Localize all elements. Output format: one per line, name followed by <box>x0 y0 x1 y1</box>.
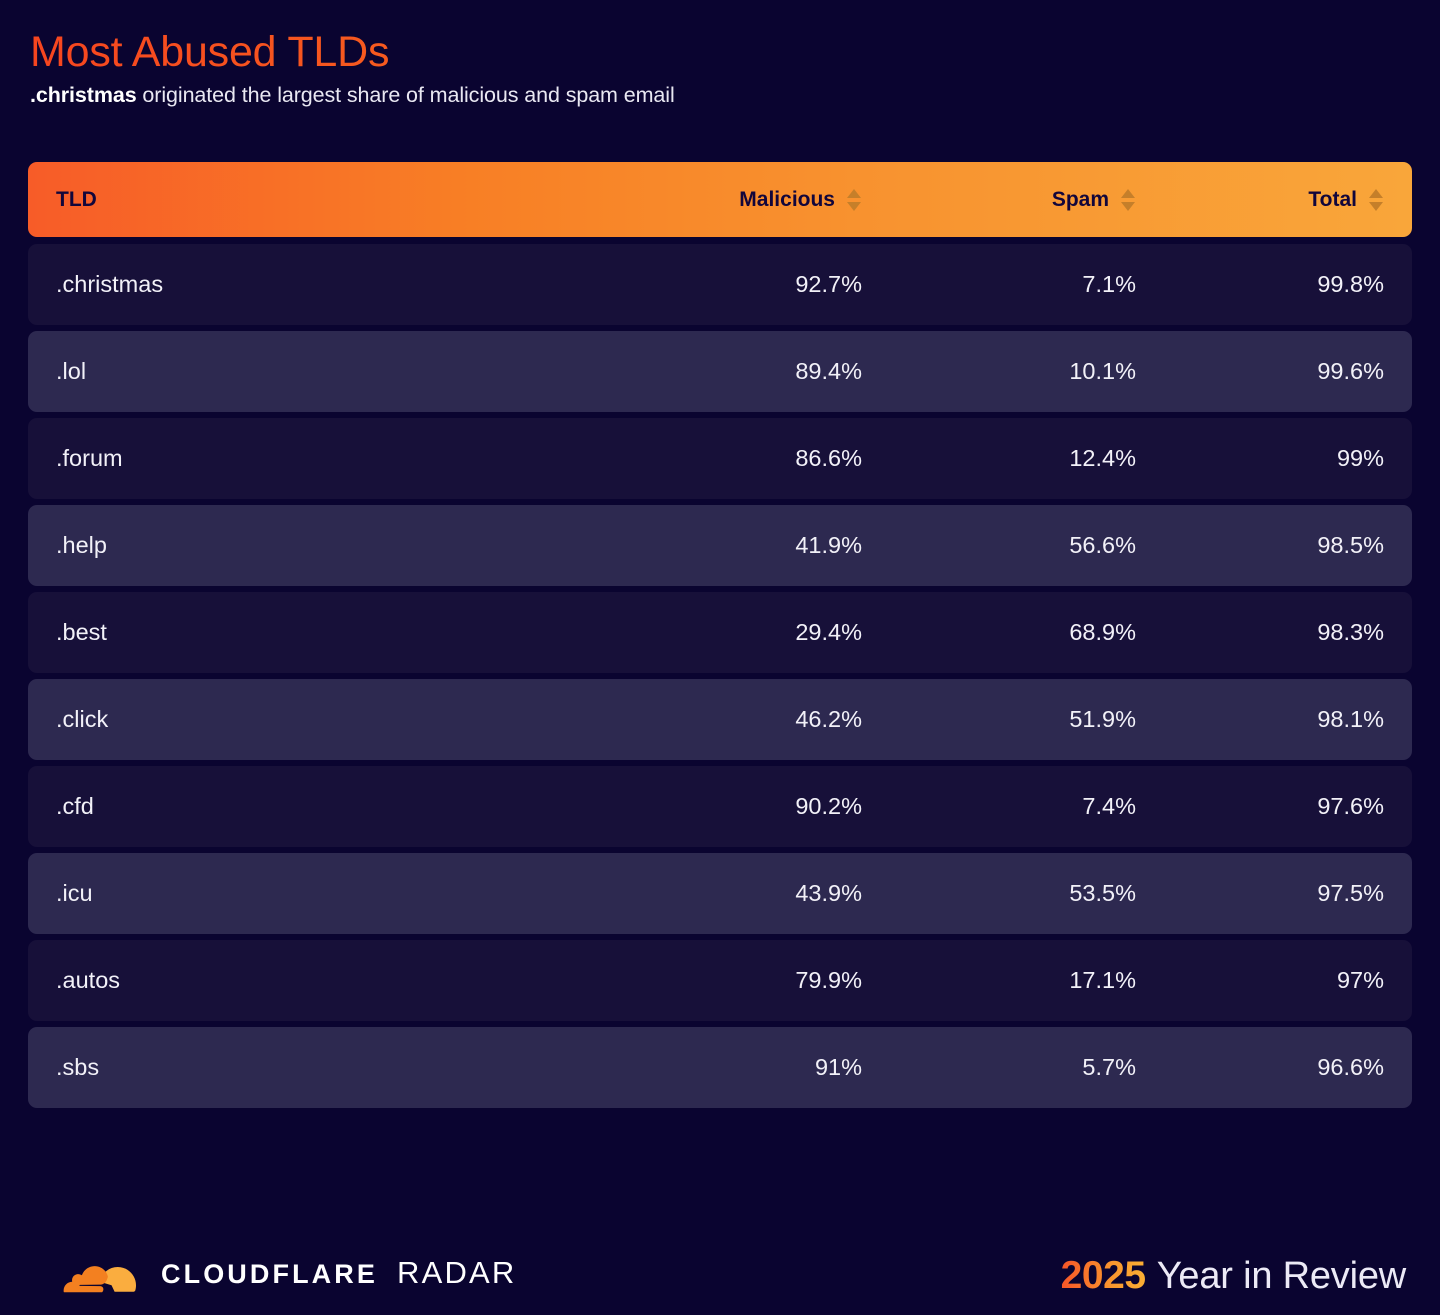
cell-malicious: 43.9% <box>588 880 862 907</box>
cell-spam: 10.1% <box>862 358 1136 385</box>
cell-spam: 53.5% <box>862 880 1136 907</box>
sort-arrow-up-icon <box>847 189 861 198</box>
brand-lockup: CLOUDFLARE RADAR <box>44 1249 517 1297</box>
year-in-review: 2025 Year in Review <box>1061 1254 1406 1298</box>
cell-malicious: 91% <box>588 1054 862 1081</box>
cell-tld: .sbs <box>28 1054 588 1081</box>
cell-total: 99.6% <box>1136 358 1412 385</box>
table-row[interactable]: .cfd 90.2% 7.4% 97.6% <box>28 766 1412 847</box>
sort-icon-malicious[interactable] <box>847 189 862 211</box>
cell-tld: .click <box>28 706 588 733</box>
header-block: Most Abused TLDs .christmas originated t… <box>30 28 1412 108</box>
cell-tld: .lol <box>28 358 588 385</box>
cell-spam: 56.6% <box>862 532 1136 559</box>
cell-tld: .cfd <box>28 793 588 820</box>
cell-total: 98.1% <box>1136 706 1412 733</box>
column-header-spam-label: Spam <box>1052 188 1109 212</box>
sort-arrow-up-icon <box>1369 189 1383 198</box>
cell-total: 99% <box>1136 445 1412 472</box>
cell-spam: 7.1% <box>862 271 1136 298</box>
cell-tld: .best <box>28 619 588 646</box>
sort-icon-total[interactable] <box>1369 189 1384 211</box>
cell-malicious: 86.6% <box>588 445 862 472</box>
cell-malicious: 92.7% <box>588 271 862 298</box>
year-in-review-label: Year in Review <box>1157 1255 1406 1298</box>
cell-malicious: 46.2% <box>588 706 862 733</box>
cell-spam: 7.4% <box>862 793 1136 820</box>
cell-malicious: 90.2% <box>588 793 862 820</box>
table-row[interactable]: .sbs 91% 5.7% 96.6% <box>28 1027 1412 1108</box>
cell-total: 97.6% <box>1136 793 1412 820</box>
cell-tld: .autos <box>28 967 588 994</box>
column-header-total-label: Total <box>1308 188 1357 212</box>
cell-total: 98.5% <box>1136 532 1412 559</box>
cell-spam: 5.7% <box>862 1054 1136 1081</box>
table-row[interactable]: .autos 79.9% 17.1% 97% <box>28 940 1412 1021</box>
cell-total: 99.8% <box>1136 271 1412 298</box>
cell-tld: .help <box>28 532 588 559</box>
cell-tld: .icu <box>28 880 588 907</box>
table-row[interactable]: .christmas 92.7% 7.1% 99.8% <box>28 244 1412 325</box>
subtitle-highlight: .christmas <box>30 83 137 107</box>
footer: CLOUDFLARE RADAR 2025 Year in Review <box>0 1205 1440 1315</box>
cell-tld: .forum <box>28 445 588 472</box>
table-row[interactable]: .forum 86.6% 12.4% 99% <box>28 418 1412 499</box>
brand-radar-label: RADAR <box>397 1255 517 1291</box>
sort-icon-spam[interactable] <box>1121 189 1136 211</box>
column-header-total[interactable]: Total <box>1136 188 1412 212</box>
sort-arrow-down-icon <box>847 202 861 211</box>
sort-arrow-down-icon <box>1369 202 1383 211</box>
brand-text: CLOUDFLARE RADAR <box>161 1255 517 1291</box>
sort-arrow-up-icon <box>1121 189 1135 198</box>
table-row[interactable]: .icu 43.9% 53.5% 97.5% <box>28 853 1412 934</box>
cell-total: 96.6% <box>1136 1054 1412 1081</box>
cell-spam: 12.4% <box>862 445 1136 472</box>
cell-malicious: 29.4% <box>588 619 862 646</box>
table-row[interactable]: .help 41.9% 56.6% 98.5% <box>28 505 1412 586</box>
page-subtitle: .christmas originated the largest share … <box>30 83 1412 108</box>
column-header-spam[interactable]: Spam <box>862 188 1136 212</box>
table-row[interactable]: .best 29.4% 68.9% 98.3% <box>28 592 1412 673</box>
column-header-malicious-label: Malicious <box>739 188 835 212</box>
cell-malicious: 79.9% <box>588 967 862 994</box>
column-header-tld[interactable]: TLD <box>28 188 588 212</box>
cell-malicious: 89.4% <box>588 358 862 385</box>
table-row[interactable]: .click 46.2% 51.9% 98.1% <box>28 679 1412 760</box>
radar-card: Most Abused TLDs .christmas originated t… <box>0 0 1440 1315</box>
cell-spam: 17.1% <box>862 967 1136 994</box>
cell-total: 98.3% <box>1136 619 1412 646</box>
tld-table: TLD Malicious Spam Total .christmas 92.7… <box>28 162 1412 1114</box>
cell-tld: .christmas <box>28 271 588 298</box>
page-title: Most Abused TLDs <box>30 28 1412 76</box>
column-header-malicious[interactable]: Malicious <box>588 188 862 212</box>
cell-total: 97% <box>1136 967 1412 994</box>
year-label: 2025 <box>1061 1254 1146 1298</box>
brand-cloudflare-label: CLOUDFLARE <box>161 1259 378 1290</box>
cell-spam: 51.9% <box>862 706 1136 733</box>
subtitle-rest: originated the largest share of maliciou… <box>137 83 675 107</box>
cell-spam: 68.9% <box>862 619 1136 646</box>
cell-total: 97.5% <box>1136 880 1412 907</box>
table-row[interactable]: .lol 89.4% 10.1% 99.6% <box>28 331 1412 412</box>
sort-arrow-down-icon <box>1121 202 1135 211</box>
table-header-row: TLD Malicious Spam Total <box>28 162 1412 237</box>
cloudflare-logo-icon <box>44 1249 142 1297</box>
cell-malicious: 41.9% <box>588 532 862 559</box>
